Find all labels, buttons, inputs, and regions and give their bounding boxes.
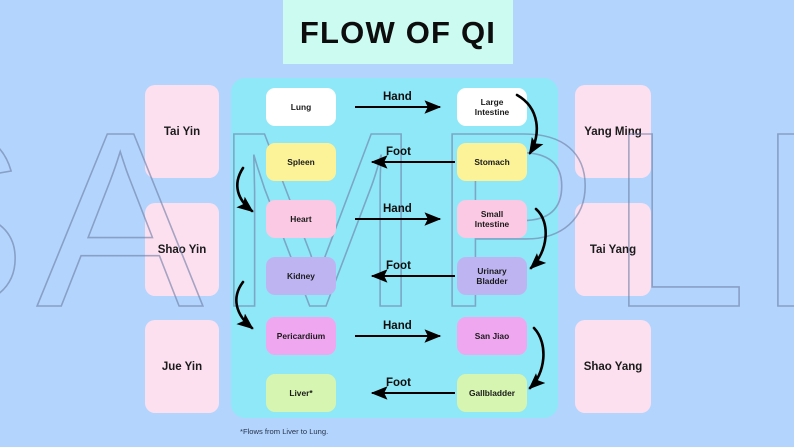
side-label-tai-yin: Tai Yin — [145, 85, 219, 178]
page-title: FLOW OF QI — [300, 17, 496, 48]
organ-label: Lung — [291, 102, 311, 113]
side-label-text: Yang Ming — [584, 126, 642, 138]
arrow-label-hand-3: Hand — [383, 320, 412, 332]
footnote-text: *Flows from Liver to Lung. — [240, 427, 328, 436]
side-label-text: Tai Yin — [164, 126, 200, 138]
side-label-jue-yin: Jue Yin — [145, 320, 219, 413]
organ-box-large-intestine[interactable]: LargeIntestine — [457, 88, 527, 126]
organ-box-lung[interactable]: Lung — [266, 88, 336, 126]
organ-box-kidney[interactable]: Kidney — [266, 257, 336, 295]
organ-box-liver[interactable]: Liver* — [266, 374, 336, 412]
organ-box-stomach[interactable]: Stomach — [457, 143, 527, 181]
organ-label: Kidney — [287, 271, 315, 282]
title-banner: FLOW OF QI — [283, 0, 513, 64]
organ-label: Pericardium — [277, 331, 325, 342]
organ-label: Liver* — [289, 388, 312, 399]
organ-label: Stomach — [474, 157, 509, 168]
organ-label: LargeIntestine — [475, 97, 509, 118]
arrow-label-hand-2: Hand — [383, 203, 412, 215]
arrow-label-hand-1: Hand — [383, 91, 412, 103]
arrow-label-foot-1: Foot — [386, 146, 411, 158]
organ-label: Heart — [290, 214, 311, 225]
organ-box-small-intestine[interactable]: SmallIntestine — [457, 200, 527, 238]
organ-label: SmallIntestine — [475, 209, 509, 230]
side-label-yang-ming: Yang Ming — [575, 85, 651, 178]
side-label-shao-yang: Shao Yang — [575, 320, 651, 413]
organ-box-san-jiao[interactable]: San Jiao — [457, 317, 527, 355]
flow-diagram-panel — [231, 78, 558, 418]
organ-label: UrinaryBladder — [476, 266, 507, 287]
organ-label: San Jiao — [475, 331, 509, 342]
arrow-label-foot-3: Foot — [386, 377, 411, 389]
side-label-tai-yang: Tai Yang — [575, 203, 651, 296]
side-label-text: Shao Yin — [158, 244, 207, 256]
organ-box-pericardium[interactable]: Pericardium — [266, 317, 336, 355]
organ-label: Gallbladder — [469, 388, 515, 399]
organ-box-gallbladder[interactable]: Gallbladder — [457, 374, 527, 412]
organ-label: Spleen — [287, 157, 314, 168]
side-label-text: Shao Yang — [584, 361, 643, 373]
side-label-shao-yin: Shao Yin — [145, 203, 219, 296]
side-label-text: Tai Yang — [590, 244, 636, 256]
side-label-text: Jue Yin — [162, 361, 202, 373]
organ-box-heart[interactable]: Heart — [266, 200, 336, 238]
organ-box-urinary-bladder[interactable]: UrinaryBladder — [457, 257, 527, 295]
arrow-label-foot-2: Foot — [386, 260, 411, 272]
organ-box-spleen[interactable]: Spleen — [266, 143, 336, 181]
